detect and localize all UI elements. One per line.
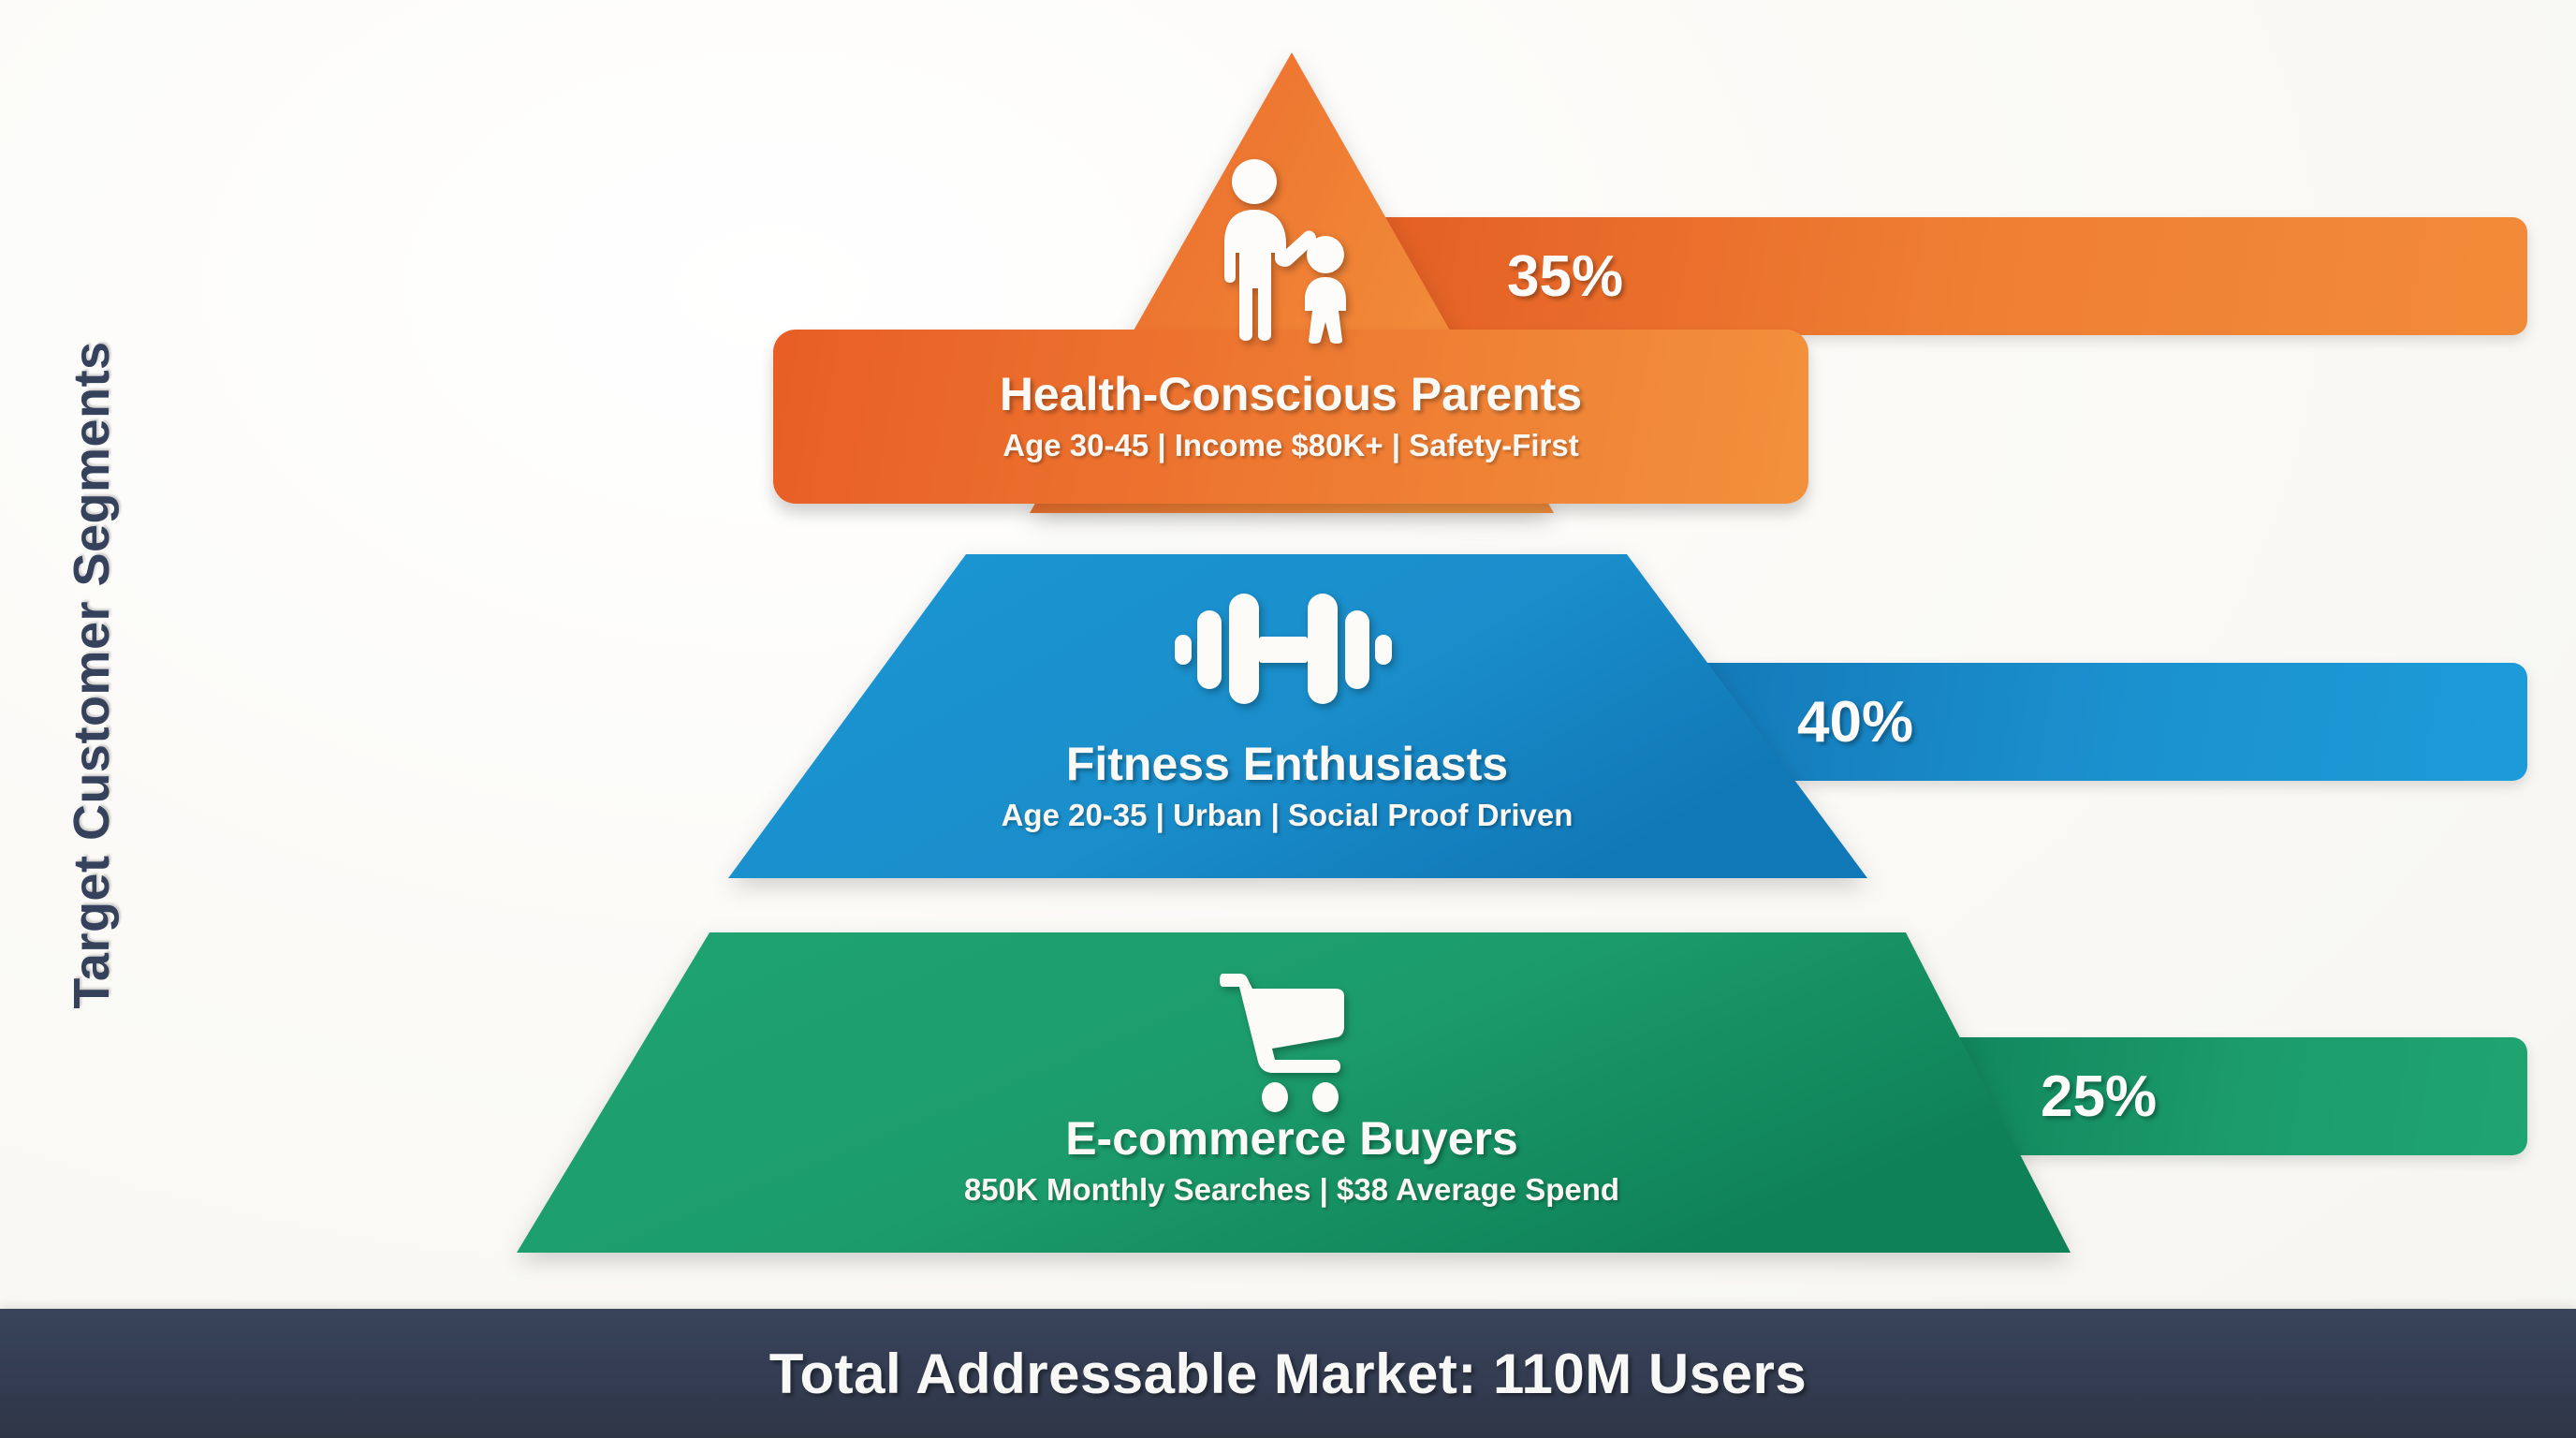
- shopping-cart-icon: [1217, 964, 1357, 1114]
- total-market-text: Total Addressable Market: 110M Users: [769, 1342, 1807, 1406]
- tier-label-card-health-conscious-parents: Health-Conscious Parents Age 30-45 | Inc…: [773, 330, 1808, 504]
- infographic-canvas: Target Customer Segments 35% 40% 25%: [0, 0, 2576, 1438]
- dumbbell-icon: [1173, 588, 1394, 710]
- parent-child-icon: [1206, 157, 1374, 345]
- total-market-banner: Total Addressable Market: 110M Users: [0, 1309, 2576, 1438]
- tier-title-health-conscious-parents: Health-Conscious Parents: [1000, 370, 1582, 419]
- axis-label-vertical: Target Customer Segments: [63, 254, 121, 1096]
- tier-subtitle-health-conscious-parents: Age 30-45 | Income $80K+ | Safety-First: [1003, 429, 1578, 462]
